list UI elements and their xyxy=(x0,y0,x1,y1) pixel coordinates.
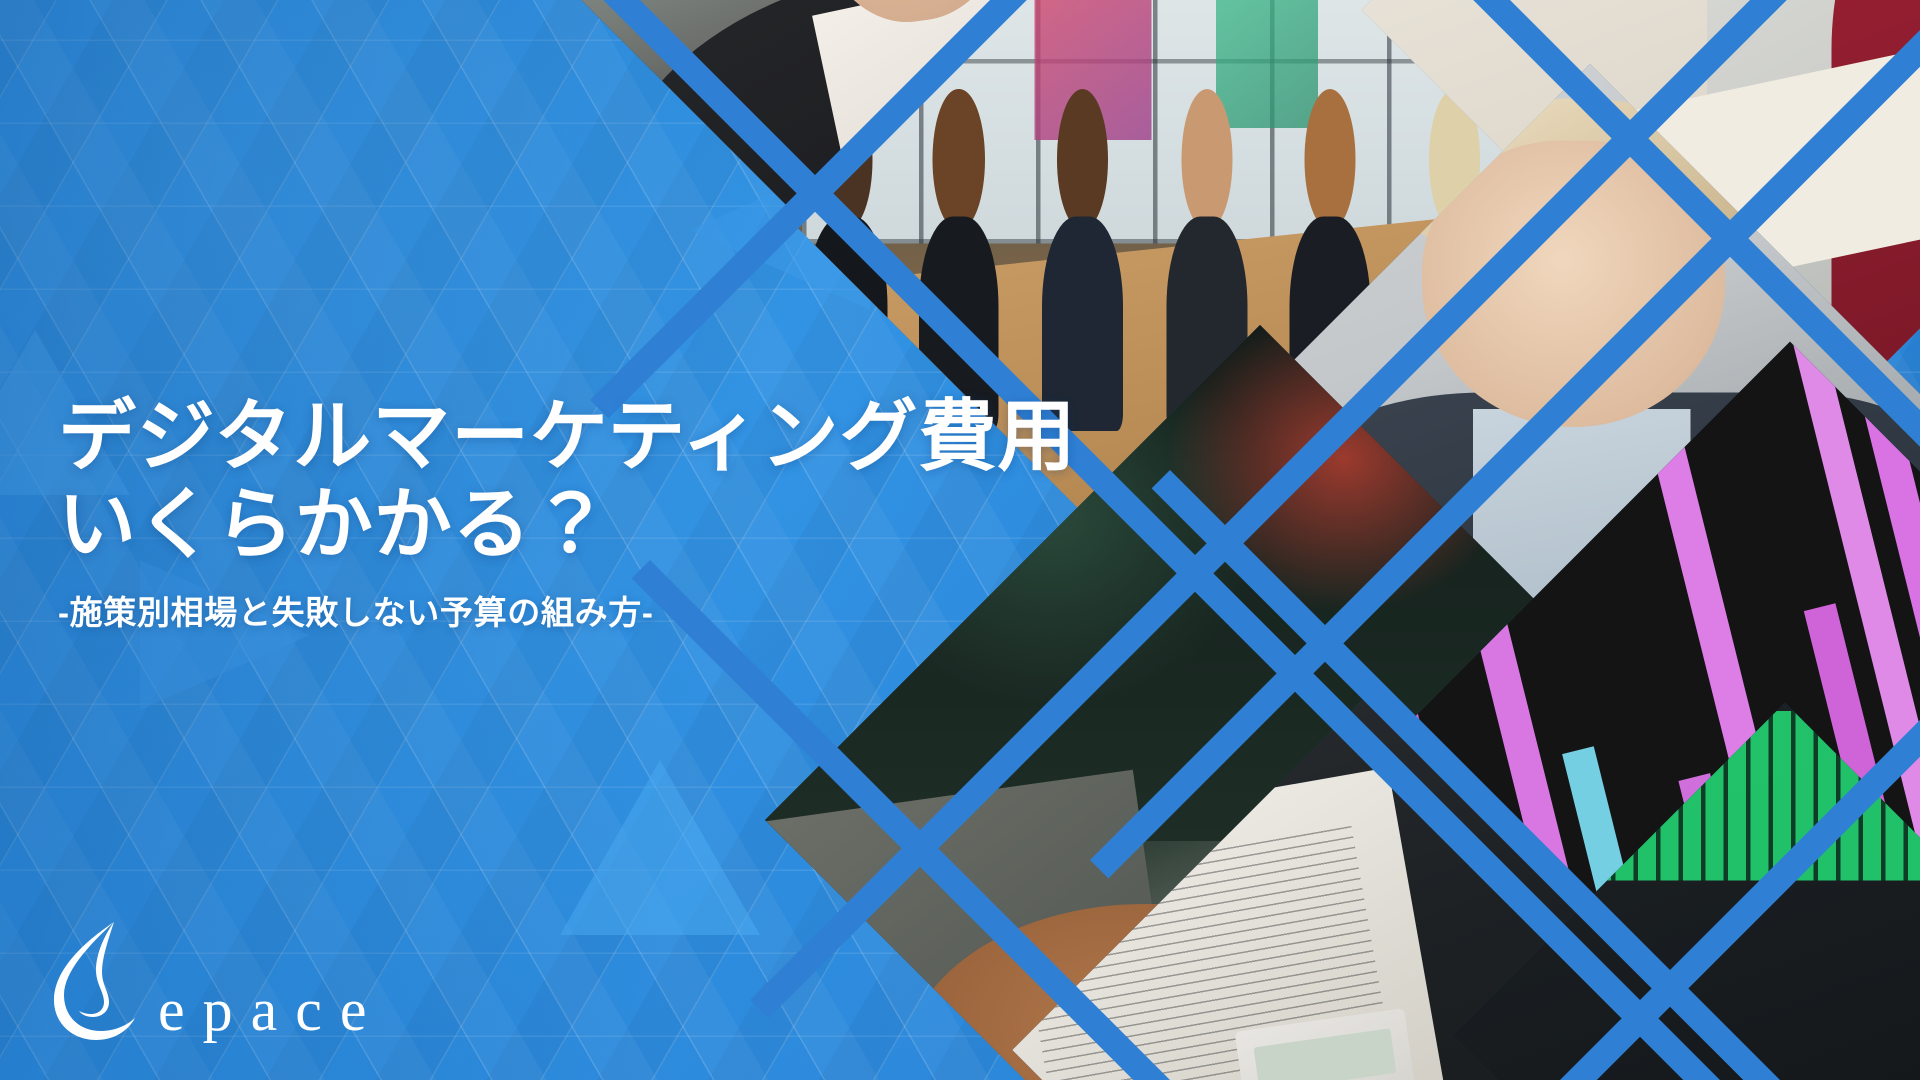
headline-block: デジタルマーケティング費用 いくらかかる？ -施策別相場と失敗しない予算の組み方… xyxy=(58,392,1218,634)
title-line-1: デジタルマーケティング費用 xyxy=(58,392,1218,480)
title-line-2: いくらかかる？ xyxy=(58,480,1218,568)
brand-wordmark: epace xyxy=(158,980,385,1044)
banner-root: max max xyxy=(0,0,1920,1080)
water-drop-logo-icon xyxy=(44,916,148,1044)
tagline: -施策別相場と失敗しない予算の組み方- xyxy=(58,586,1218,634)
brand-logo: epace xyxy=(44,916,385,1044)
